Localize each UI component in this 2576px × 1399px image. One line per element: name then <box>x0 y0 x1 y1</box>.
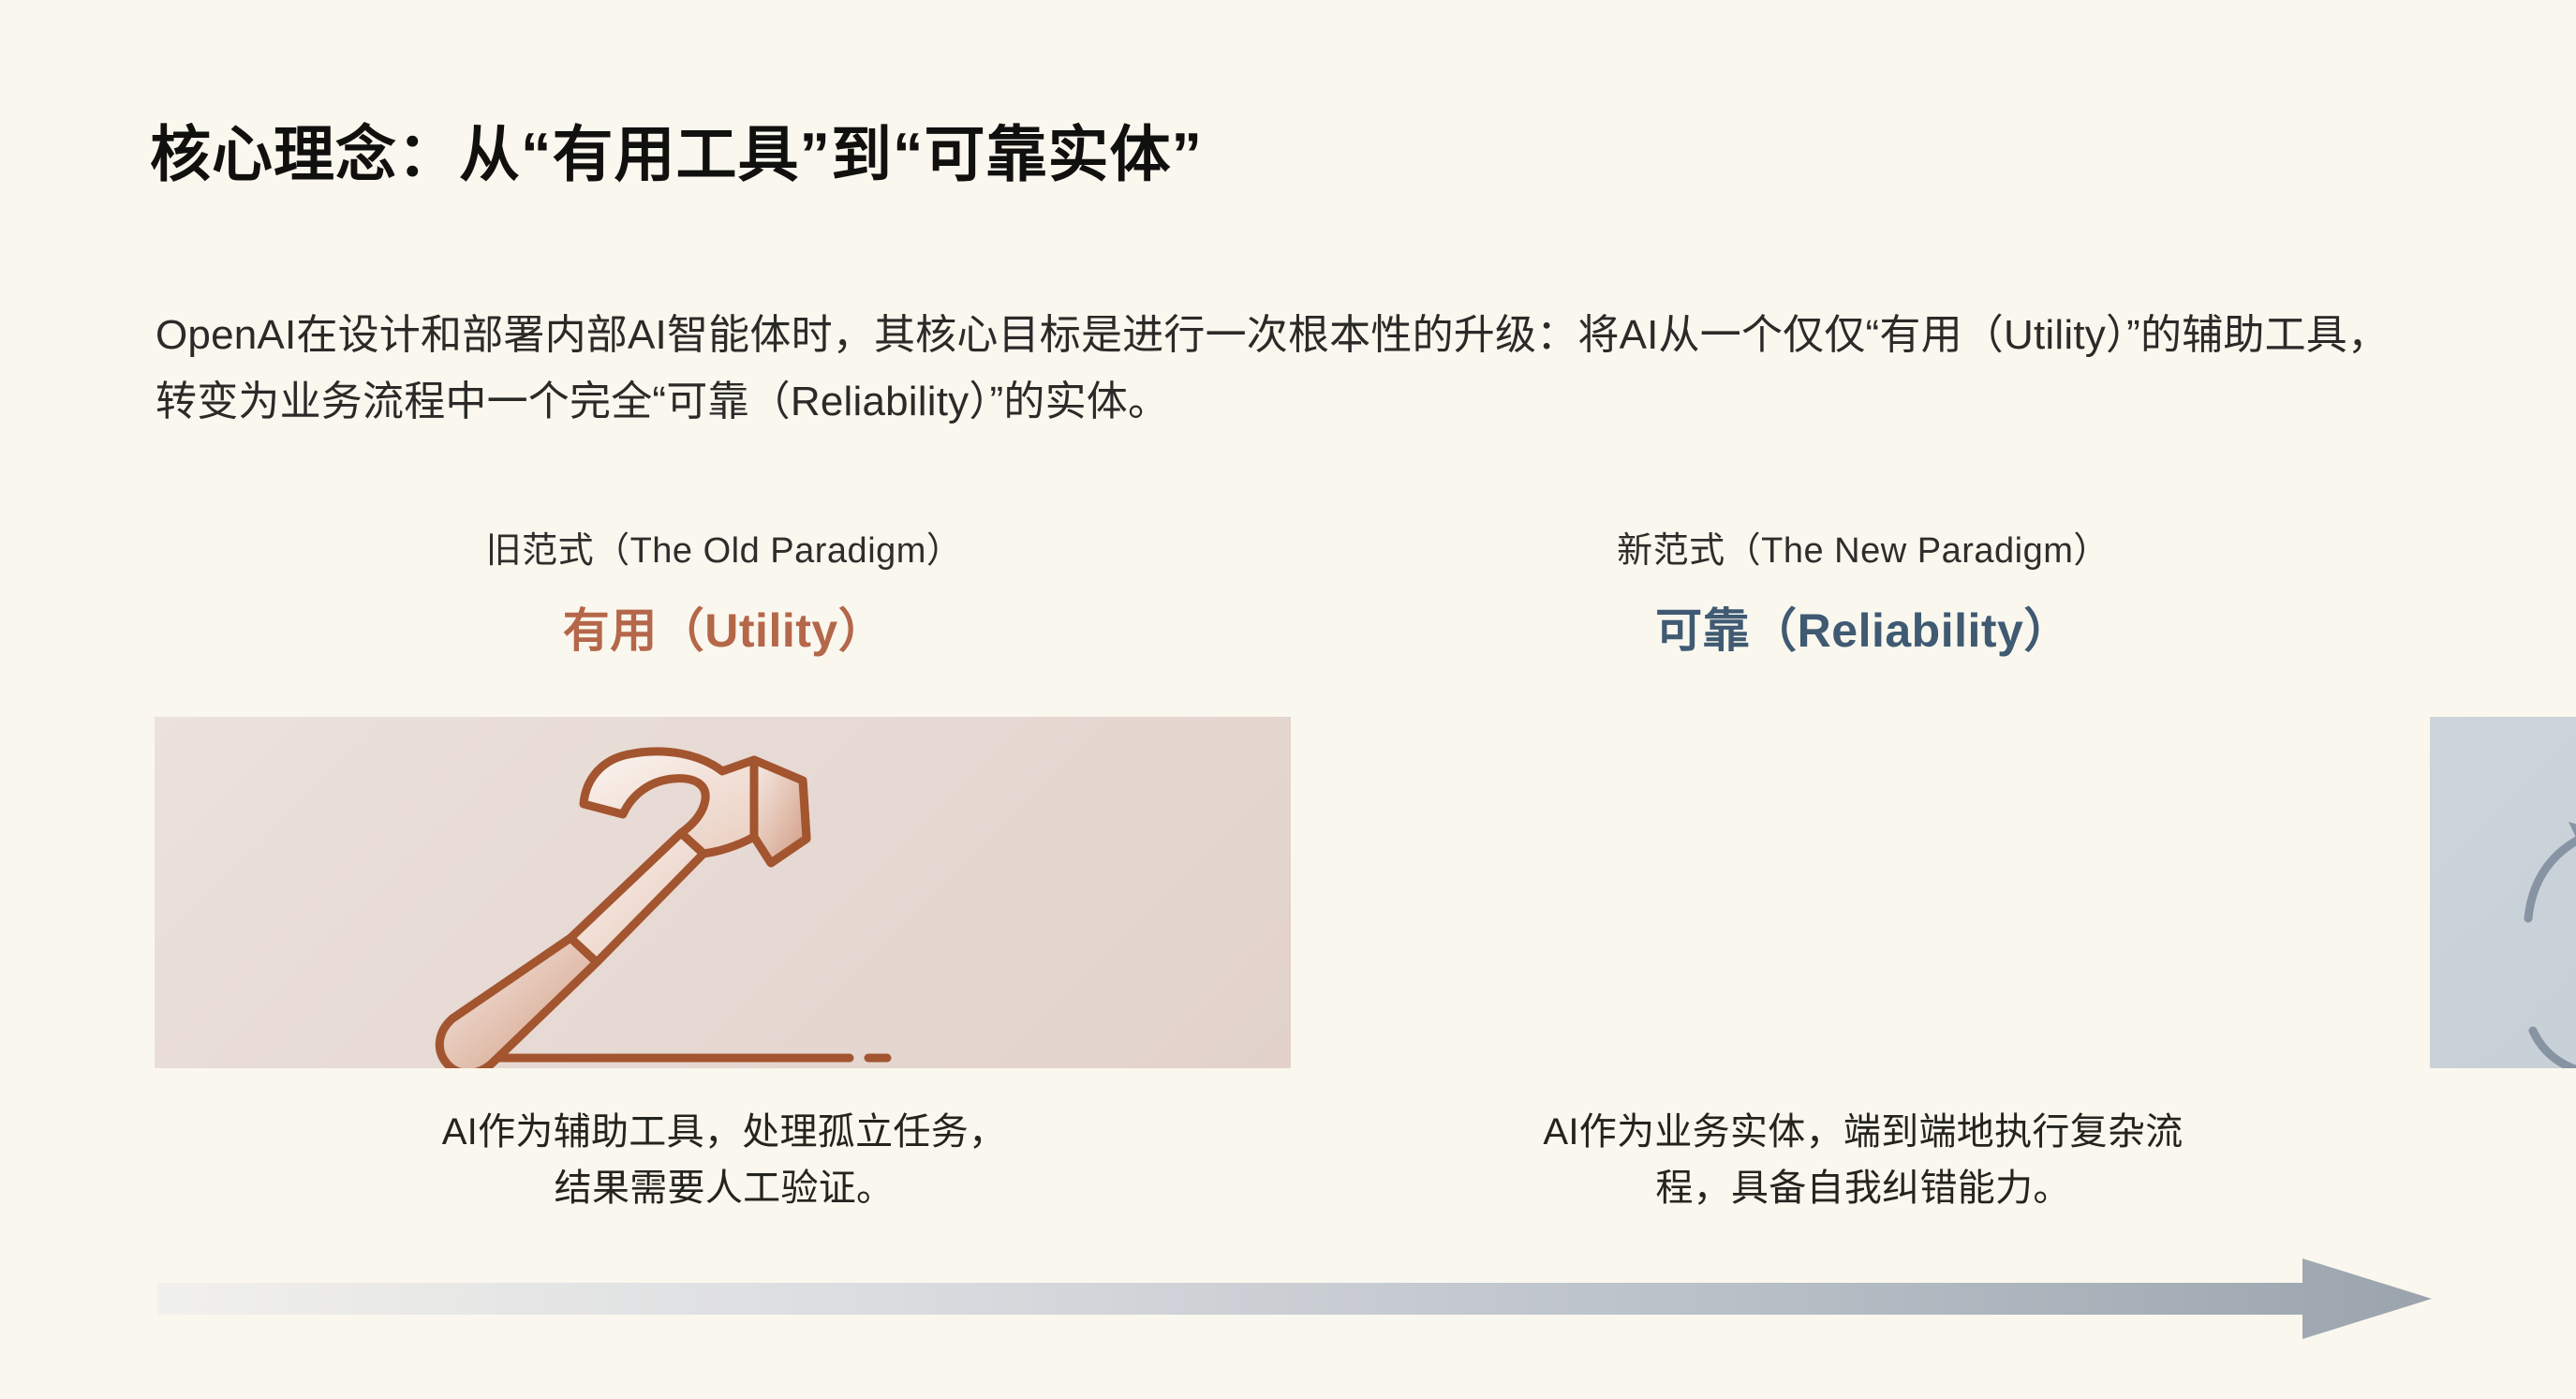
progression-arrow <box>157 1257 2434 1341</box>
column-old-paradigm: 旧范式（The Old Paradigm） 有用（Utility） <box>155 515 1294 1256</box>
new-paradigm-subtitle: 新范式（The New Paradigm） <box>1294 521 2433 573</box>
intro-paragraph: OpenAI在设计和部署内部AI智能体时，其核心目标是进行一次根本性的升级：将A… <box>155 302 2404 436</box>
old-paradigm-subtitle: 旧范式（The Old Paradigm） <box>155 521 1294 573</box>
old-paradigm-heading: 有用（Utility） <box>155 593 1294 661</box>
progression-arrow-icon <box>157 1257 2434 1341</box>
slide-root: 核心理念：从“有用工具”到“可靠实体” OpenAI在设计和部署内部AI智能体时… <box>0 0 2576 1399</box>
comparison-columns: 旧范式（The Old Paradigm） 有用（Utility） <box>155 515 2433 1256</box>
gears-icon <box>2430 717 2576 1068</box>
column-new-paradigm: 新范式（The New Paradigm） 可靠（Reliability） <box>1294 515 2433 1256</box>
page-title: 核心理念：从“有用工具”到“可靠实体” <box>150 105 1203 193</box>
new-paradigm-caption: AI作为业务实体，端到端地执行复杂流 程，具备自我纠错能力。 <box>1294 1104 2433 1216</box>
new-paradigm-heading: 可靠（Reliability） <box>1294 593 2433 661</box>
old-paradigm-caption-line2: 结果需要人工验证。 <box>155 1160 1294 1216</box>
new-paradigm-caption-line1: AI作为业务实体，端到端地执行复杂流 <box>1294 1104 2433 1160</box>
old-paradigm-illustration-panel <box>155 717 1291 1068</box>
old-paradigm-caption-line1: AI作为辅助工具，处理孤立任务， <box>155 1104 1294 1160</box>
hammer-icon <box>155 717 1291 1068</box>
new-paradigm-caption-line2: 程，具备自我纠错能力。 <box>1294 1160 2433 1216</box>
old-paradigm-caption: AI作为辅助工具，处理孤立任务， 结果需要人工验证。 <box>155 1104 1294 1216</box>
new-paradigm-illustration-panel <box>2430 717 2576 1068</box>
